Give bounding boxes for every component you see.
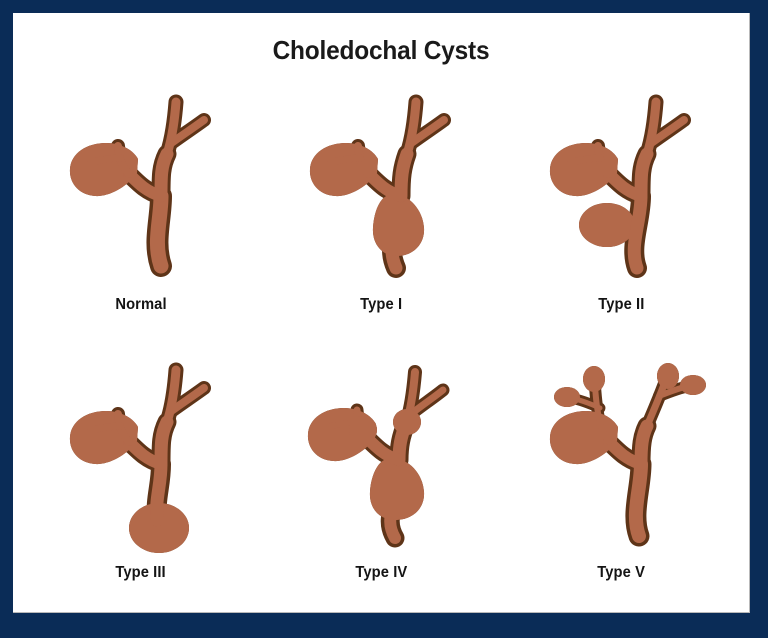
panel-normal: Normal <box>21 70 261 338</box>
biliary-tree-type-iii-diagram <box>43 338 239 566</box>
panel-type-iv: Type IV <box>261 338 501 606</box>
figure-card: Choledochal Cysts <box>13 13 750 613</box>
figure-root: Choledochal Cysts <box>0 0 768 638</box>
biliary-tree-normal-diagram <box>43 70 239 298</box>
biliary-tree-type-iv-diagram <box>283 338 479 566</box>
panel-label-type-v: Type V <box>597 564 645 582</box>
biliary-tree-type-i-diagram <box>283 70 479 298</box>
panel-label-type-iv: Type IV <box>355 564 407 582</box>
panel-type-i: Type I <box>261 70 501 338</box>
panel-grid: Normal <box>13 66 749 612</box>
panel-label-normal: Normal <box>115 296 166 314</box>
panel-type-v: Type V <box>501 338 741 606</box>
panel-type-iii: Type III <box>21 338 261 606</box>
panel-label-type-ii: Type II <box>598 296 644 314</box>
biliary-tree-type-v-diagram <box>523 338 719 566</box>
panel-type-ii: Type II <box>501 70 741 338</box>
page-title: Choledochal Cysts <box>35 35 727 66</box>
biliary-tree-type-ii-diagram <box>523 70 719 298</box>
panel-label-type-iii: Type III <box>116 564 166 582</box>
panel-label-type-i: Type I <box>360 296 402 314</box>
